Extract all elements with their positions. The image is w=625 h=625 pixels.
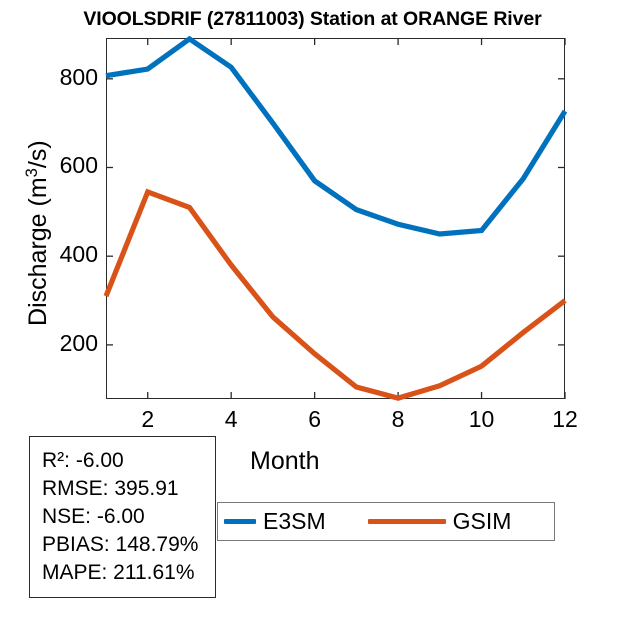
chart-legend[interactable]: E3SM GSIM [217, 502, 555, 541]
plot-series-canvas [106, 38, 565, 399]
x-tick-label: 8 [376, 406, 420, 433]
legend-label-e3sm: E3SM [263, 508, 326, 535]
axis-tick-marks [106, 38, 565, 399]
chart-title: VIOOLSDRIF (27811003) Station at ORANGE … [0, 8, 625, 31]
x-tick-label: 10 [460, 406, 504, 433]
stat-line: NSE: -6.00 [42, 503, 215, 531]
legend-label-gsim: GSIM [453, 508, 512, 535]
series-line-gsim [106, 192, 565, 398]
data-series-group [106, 39, 565, 398]
legend-swatch-e3sm [224, 519, 256, 524]
legend-entry-e3sm[interactable]: E3SM [224, 508, 326, 535]
figure-canvas: VIOOLSDRIF (27811003) Station at ORANGE … [0, 0, 625, 625]
x-axis-label: Month [250, 447, 319, 476]
stat-line: RMSE: 395.91 [42, 475, 215, 503]
stat-line: R²: -6.00 [42, 447, 215, 475]
stat-line: MAPE: 211.61% [42, 559, 215, 587]
y-axis-label: Discharge (m3/s) [23, 103, 53, 363]
y-tick-label: 800 [12, 64, 98, 91]
legend-swatch-gsim [368, 519, 446, 524]
x-tick-label: 12 [543, 406, 587, 433]
x-tick-label: 2 [126, 406, 170, 433]
x-tick-label: 4 [209, 406, 253, 433]
x-tick-label: 6 [293, 406, 337, 433]
stat-line: PBIAS: 148.79% [42, 531, 215, 559]
legend-entry-gsim[interactable]: GSIM [368, 508, 512, 535]
statistics-box: R²: -6.00RMSE: 395.91NSE: -6.00PBIAS: 14… [29, 436, 216, 598]
